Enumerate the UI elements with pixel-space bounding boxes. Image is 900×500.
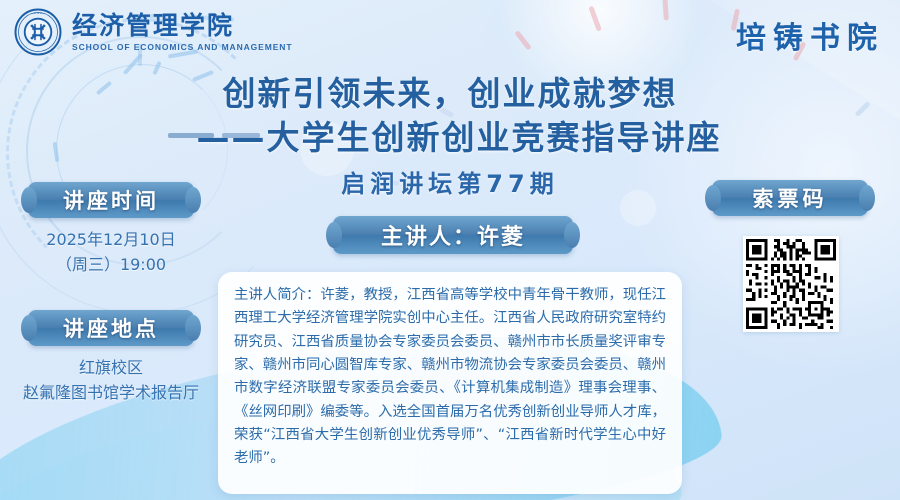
ticket-code-label: 索票码 xyxy=(712,180,868,216)
page-title: 创新引领未来，创业成就梦想 ——大学生创新创业竞赛指导讲座 xyxy=(0,72,900,159)
title-line-2: ——大学生创新创业竞赛指导讲座 xyxy=(0,116,900,160)
lecture-place-label: 讲座地点 xyxy=(28,310,194,346)
speaker-bio-text: 主讲人简介：许菱，教授，江西省高等学校中青年骨干教师，现任江西理工大学经济管理学… xyxy=(234,284,666,471)
school-name-en: SCHOOL OF ECONOMICS AND MANAGEMENT xyxy=(72,42,292,52)
poster-canvas: ★ ★ ★ 经济管理学院 SCHOOL OF ECONOMICS AND MAN… xyxy=(0,0,900,500)
school-seal-icon: ★ ★ ★ xyxy=(14,8,62,56)
school-name-cn: 经济管理学院 xyxy=(72,12,292,41)
school-logo-group: ★ ★ ★ 经济管理学院 SCHOOL OF ECONOMICS AND MAN… xyxy=(14,8,292,56)
lecture-clock: （周三）19:00 xyxy=(8,253,214,278)
lecture-time-label: 讲座时间 xyxy=(28,182,194,218)
academy-brand: 培铸书院 xyxy=(736,13,884,57)
poster-header: ★ ★ ★ 经济管理学院 SCHOOL OF ECONOMICS AND MAN… xyxy=(0,0,900,68)
school-name-group: 经济管理学院 SCHOOL OF ECONOMICS AND MANAGEMEN… xyxy=(72,12,292,53)
venue-name: 赵氟隆图书馆学术报告厅 xyxy=(0,381,222,406)
qr-code-icon[interactable] xyxy=(743,236,839,332)
speaker-banner: 主讲人：许菱 xyxy=(333,216,573,254)
title-line-1: 创新引领未来，创业成就梦想 xyxy=(0,72,900,116)
lecture-place-value: 红旗校区 赵氟隆图书馆学术报告厅 xyxy=(0,356,222,406)
lecture-time-value: 2025年12月10日 （周三）19:00 xyxy=(8,228,214,278)
lecture-date: 2025年12月10日 xyxy=(8,228,214,253)
svg-text:★ ★ ★: ★ ★ ★ xyxy=(34,12,43,15)
campus-name: 红旗校区 xyxy=(0,356,222,381)
speaker-bio-card: 主讲人简介：许菱，教授，江西省高等学校中青年骨干教师，现任江西理工大学经济管理学… xyxy=(218,272,682,494)
